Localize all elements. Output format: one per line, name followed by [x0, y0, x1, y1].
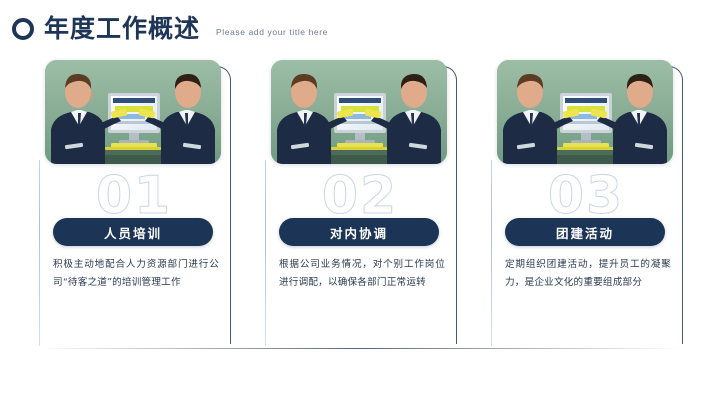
slide-header: 年度工作概述 Please add your title here: [0, 0, 720, 56]
card-body-text: 定期组织团建活动，提升员工的凝聚力，是企业文化的重要组成部分: [505, 256, 671, 291]
card-pill-label[interactable]: 团建活动: [505, 218, 665, 246]
card-photo: [45, 60, 221, 164]
card-number: 01: [35, 170, 233, 222]
ring-icon: [12, 18, 34, 40]
bottom-divider: [40, 348, 680, 349]
content-card[interactable]: 03 团建活动 定期组织团建活动，提升员工的凝聚力，是企业文化的重要组成部分: [487, 60, 685, 350]
card-number: 02: [261, 170, 459, 222]
content-card[interactable]: 02 对内协调 根据公司业务情况，对个别工作岗位进行调配，以确保各部门正常运转: [261, 60, 459, 350]
page-title: 年度工作概述: [44, 16, 200, 41]
card-photo: [271, 60, 447, 164]
businessmen-monitor-illustration: [45, 60, 221, 164]
card-photo: [497, 60, 673, 164]
card-number: 03: [487, 170, 685, 222]
card-pill-label[interactable]: 对内协调: [279, 218, 439, 246]
card-row: 01 人员培训 积极主动地配合人力资源部门进行公司“待客之道”的培训管理工作: [0, 60, 720, 350]
card-body-text: 积极主动地配合人力资源部门进行公司“待客之道”的培训管理工作: [53, 256, 219, 291]
card-frame-left: [265, 160, 266, 346]
card-frame-left: [39, 160, 40, 346]
businessmen-monitor-illustration: [271, 60, 447, 164]
page-subtitle: Please add your title here: [216, 20, 328, 37]
businessmen-monitor-illustration: [497, 60, 673, 164]
card-body-text: 根据公司业务情况，对个别工作岗位进行调配，以确保各部门正常运转: [279, 256, 445, 291]
content-card[interactable]: 01 人员培训 积极主动地配合人力资源部门进行公司“待客之道”的培训管理工作: [35, 60, 233, 350]
card-frame-left: [491, 160, 492, 346]
card-pill-label[interactable]: 人员培训: [53, 218, 213, 246]
